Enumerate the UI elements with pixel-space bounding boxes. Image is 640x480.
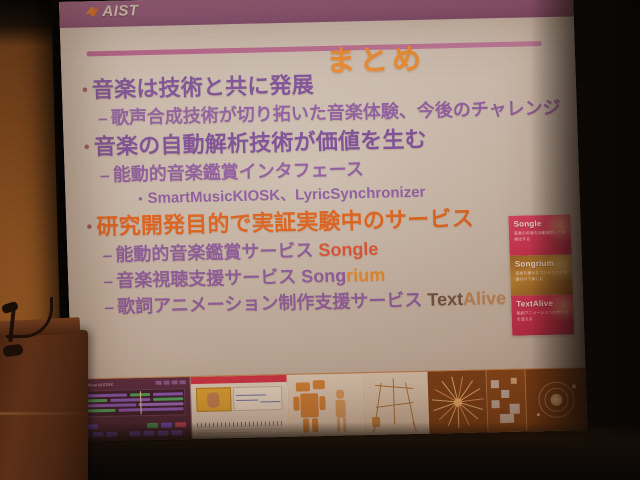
brand-rium: rium — [346, 265, 386, 286]
projection-screen: AIST まとめ • 音楽は技術と共に発展 – 歌声合成技術 — [59, 0, 587, 442]
bullet-text-prefix: 歌詞アニメーション制作支援サービス — [117, 290, 428, 317]
dash-marker-icon: – — [100, 269, 117, 294]
subdot-marker-icon: • — [133, 188, 148, 210]
brand-song: Song — [301, 266, 347, 287]
title-rule — [87, 41, 542, 56]
bullet-text-prefix: 能動的音楽鑑賞サービス — [115, 240, 319, 265]
bullet-marker-icon: • — [79, 132, 94, 162]
photo-scene: AIST まとめ • 音楽は技術と共に発展 – 歌声合成技術 — [0, 0, 640, 480]
kiosk-waveform-panel — [77, 388, 186, 417]
floor-shadow — [0, 422, 640, 480]
brand-alive: Alive — [463, 288, 507, 309]
bullet-marker-icon: • — [77, 75, 92, 105]
slide-surface: AIST まとめ • 音楽は技術と共に発展 – 歌声合成技術 — [59, 0, 587, 442]
right-wall-shadow — [530, 0, 640, 480]
bullet-text-prefix: 音楽視聴支援サービス — [116, 267, 302, 291]
dash-marker-icon: – — [99, 243, 116, 268]
dash-marker-icon: – — [94, 106, 111, 131]
brand-songle: Songle — [318, 239, 379, 260]
bullet-text: 音楽は技術と共に発展 — [91, 70, 314, 105]
aist-swoosh-icon — [85, 6, 99, 17]
lectern-edge — [0, 412, 88, 415]
dash-marker-icon: – — [101, 295, 118, 320]
aist-logo-text: AIST — [102, 2, 139, 20]
person-thumb — [207, 392, 219, 407]
kiosk-toolbar-icons — [156, 380, 186, 385]
doc-video-pane — [196, 387, 232, 412]
brand-text: Text — [427, 289, 463, 310]
doc-graph-pane — [233, 386, 283, 411]
aist-logo: AIST — [85, 2, 139, 20]
slide-bullet-list: • 音楽は技術と共に発展 – 歌声合成技術が切り拓いた音楽体験、今後のチャレンジ… — [77, 65, 573, 322]
dash-marker-icon: – — [96, 163, 113, 188]
bullet-marker-icon: • — [82, 212, 97, 242]
doc-titlebar — [191, 375, 287, 384]
slide-body: まとめ • 音楽は技術と共に発展 – 歌声合成技術が切り拓いた音楽体験、今後のチ… — [60, 16, 588, 441]
